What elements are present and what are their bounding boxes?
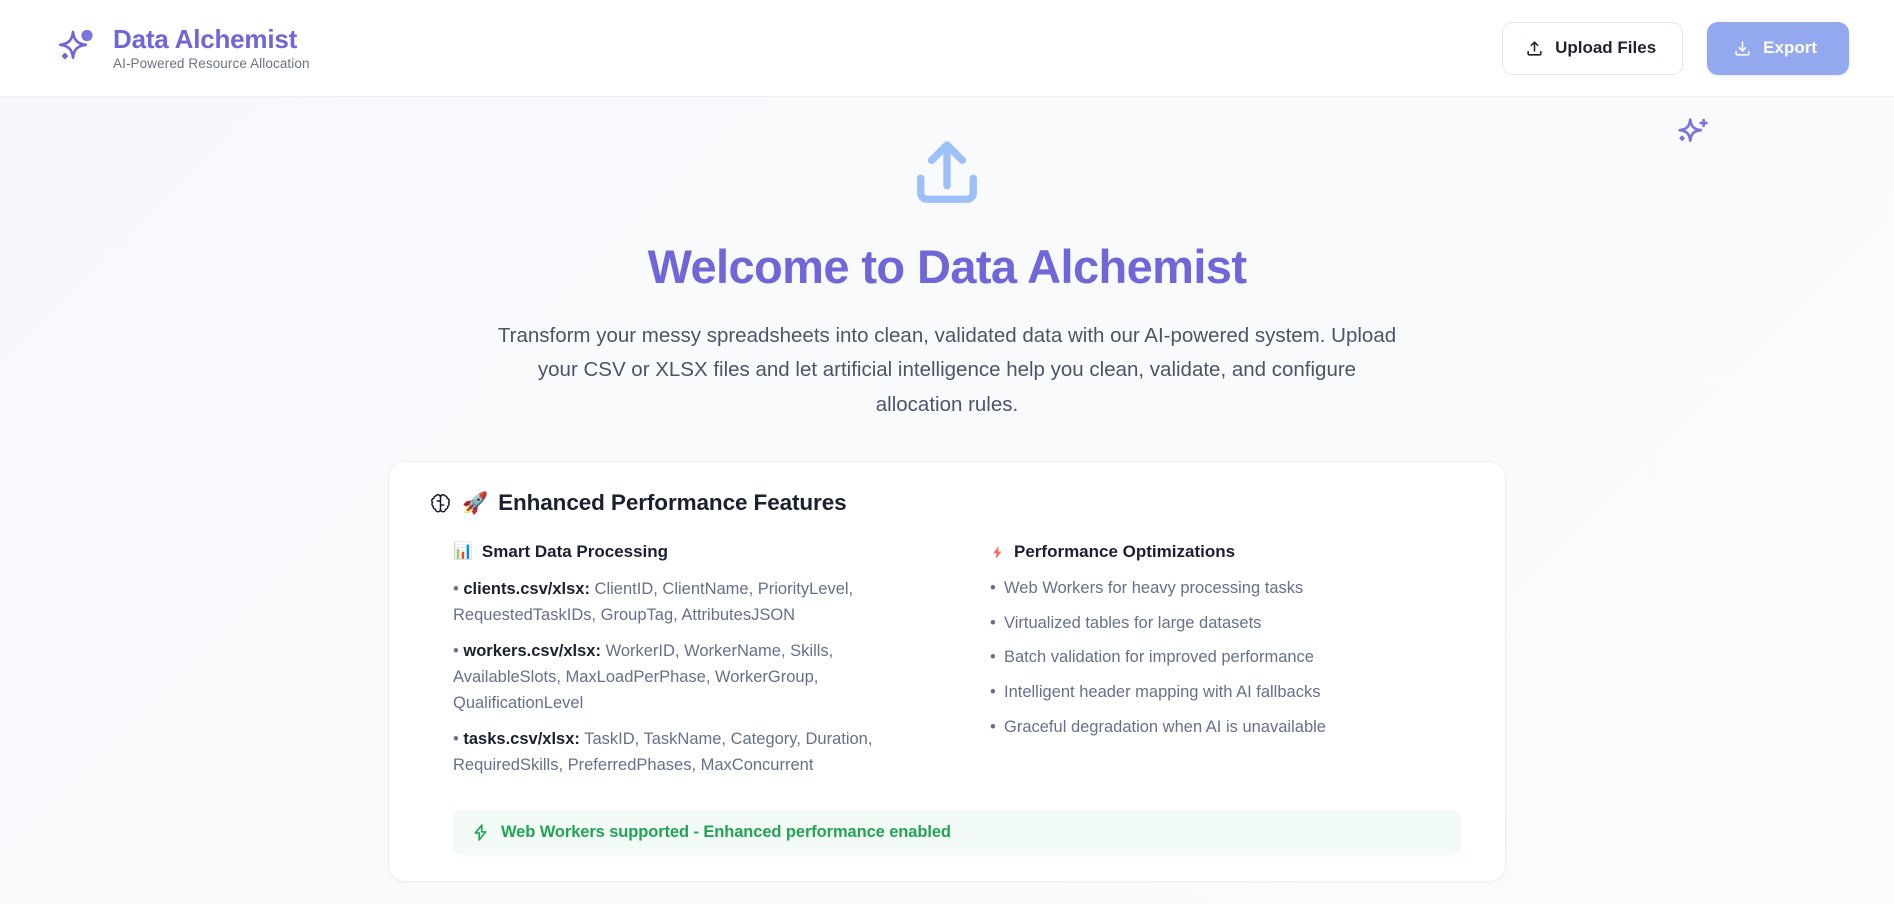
page-description: Transform your messy spreadsheets into c…: [495, 319, 1400, 422]
sparkle-logo-icon: [55, 26, 99, 70]
main-content: Welcome to Data Alchemist Transform your…: [0, 97, 1894, 904]
app-subtitle: AI-Powered Resource Allocation: [113, 56, 310, 71]
upload-icon: [1525, 39, 1544, 58]
upload-files-button[interactable]: Upload Files: [1502, 22, 1683, 75]
rocket-emoji: 🚀: [462, 493, 488, 514]
upload-cloud-icon: [905, 131, 989, 215]
list-item: Web Workers for heavy processing tasks: [990, 576, 1461, 602]
status-text: Web Workers supported - Enhanced perform…: [501, 823, 951, 842]
file-name: tasks.csv/xlsx:: [463, 730, 580, 748]
smart-data-processing-label: Smart Data Processing: [482, 542, 668, 562]
lightning-bolt-icon: [990, 544, 1005, 561]
list-item: • clients.csv/xlsx: ClientID, ClientName…: [453, 576, 924, 628]
export-label: Export: [1763, 38, 1817, 58]
hero-section: Welcome to Data Alchemist Transform your…: [0, 119, 1894, 422]
app-header: Data Alchemist AI-Powered Resource Alloc…: [0, 0, 1894, 97]
list-item: Graceful degradation when AI is unavaila…: [990, 715, 1461, 741]
list-item: Batch validation for improved performanc…: [990, 645, 1461, 671]
feature-card-columns: 📊 Smart Data Processing • clients.csv/xl…: [411, 542, 1483, 788]
brand-text: Data Alchemist AI-Powered Resource Alloc…: [113, 25, 310, 71]
smart-data-processing-heading: 📊 Smart Data Processing: [453, 542, 924, 562]
bar-chart-emoji: 📊: [453, 544, 473, 560]
file-name: workers.csv/xlsx:: [463, 642, 601, 660]
list-item: Intelligent header mapping with AI fallb…: [990, 680, 1461, 706]
list-item: • tasks.csv/xlsx: TaskID, TaskName, Cate…: [453, 726, 924, 778]
brain-icon: [429, 492, 452, 515]
sparkles-icon: [1674, 112, 1716, 154]
brand: Data Alchemist AI-Powered Resource Alloc…: [55, 25, 310, 71]
feature-card: 🚀 Enhanced Performance Features 📊 Smart …: [388, 461, 1506, 882]
optimization-list: Web Workers for heavy processing tasks V…: [990, 576, 1461, 741]
bullet: •: [453, 730, 459, 748]
performance-optimizations-label: Performance Optimizations: [1014, 542, 1235, 562]
list-item: Virtualized tables for large datasets: [990, 611, 1461, 637]
performance-optimizations-heading: Performance Optimizations: [990, 542, 1461, 562]
upload-files-label: Upload Files: [1555, 38, 1656, 58]
download-icon: [1733, 39, 1752, 58]
file-spec-list: • clients.csv/xlsx: ClientID, ClientName…: [453, 576, 924, 778]
file-name: clients.csv/xlsx:: [463, 580, 590, 598]
status-badge: Web Workers supported - Enhanced perform…: [453, 810, 1461, 855]
export-button[interactable]: Export: [1707, 22, 1849, 75]
performance-optimizations-column: Performance Optimizations Web Workers fo…: [990, 542, 1461, 788]
bullet: •: [453, 580, 459, 598]
smart-data-processing-column: 📊 Smart Data Processing • clients.csv/xl…: [453, 542, 924, 788]
zap-icon: [471, 823, 490, 842]
page-title: Welcome to Data Alchemist: [0, 241, 1894, 293]
app-title: Data Alchemist: [113, 25, 310, 55]
list-item: • workers.csv/xlsx: WorkerID, WorkerName…: [453, 638, 924, 716]
feature-card-title-text: Enhanced Performance Features: [498, 490, 846, 516]
feature-card-title: 🚀 Enhanced Performance Features: [411, 486, 1483, 516]
header-actions: Upload Files Export: [1502, 22, 1849, 75]
bullet: •: [453, 642, 459, 660]
